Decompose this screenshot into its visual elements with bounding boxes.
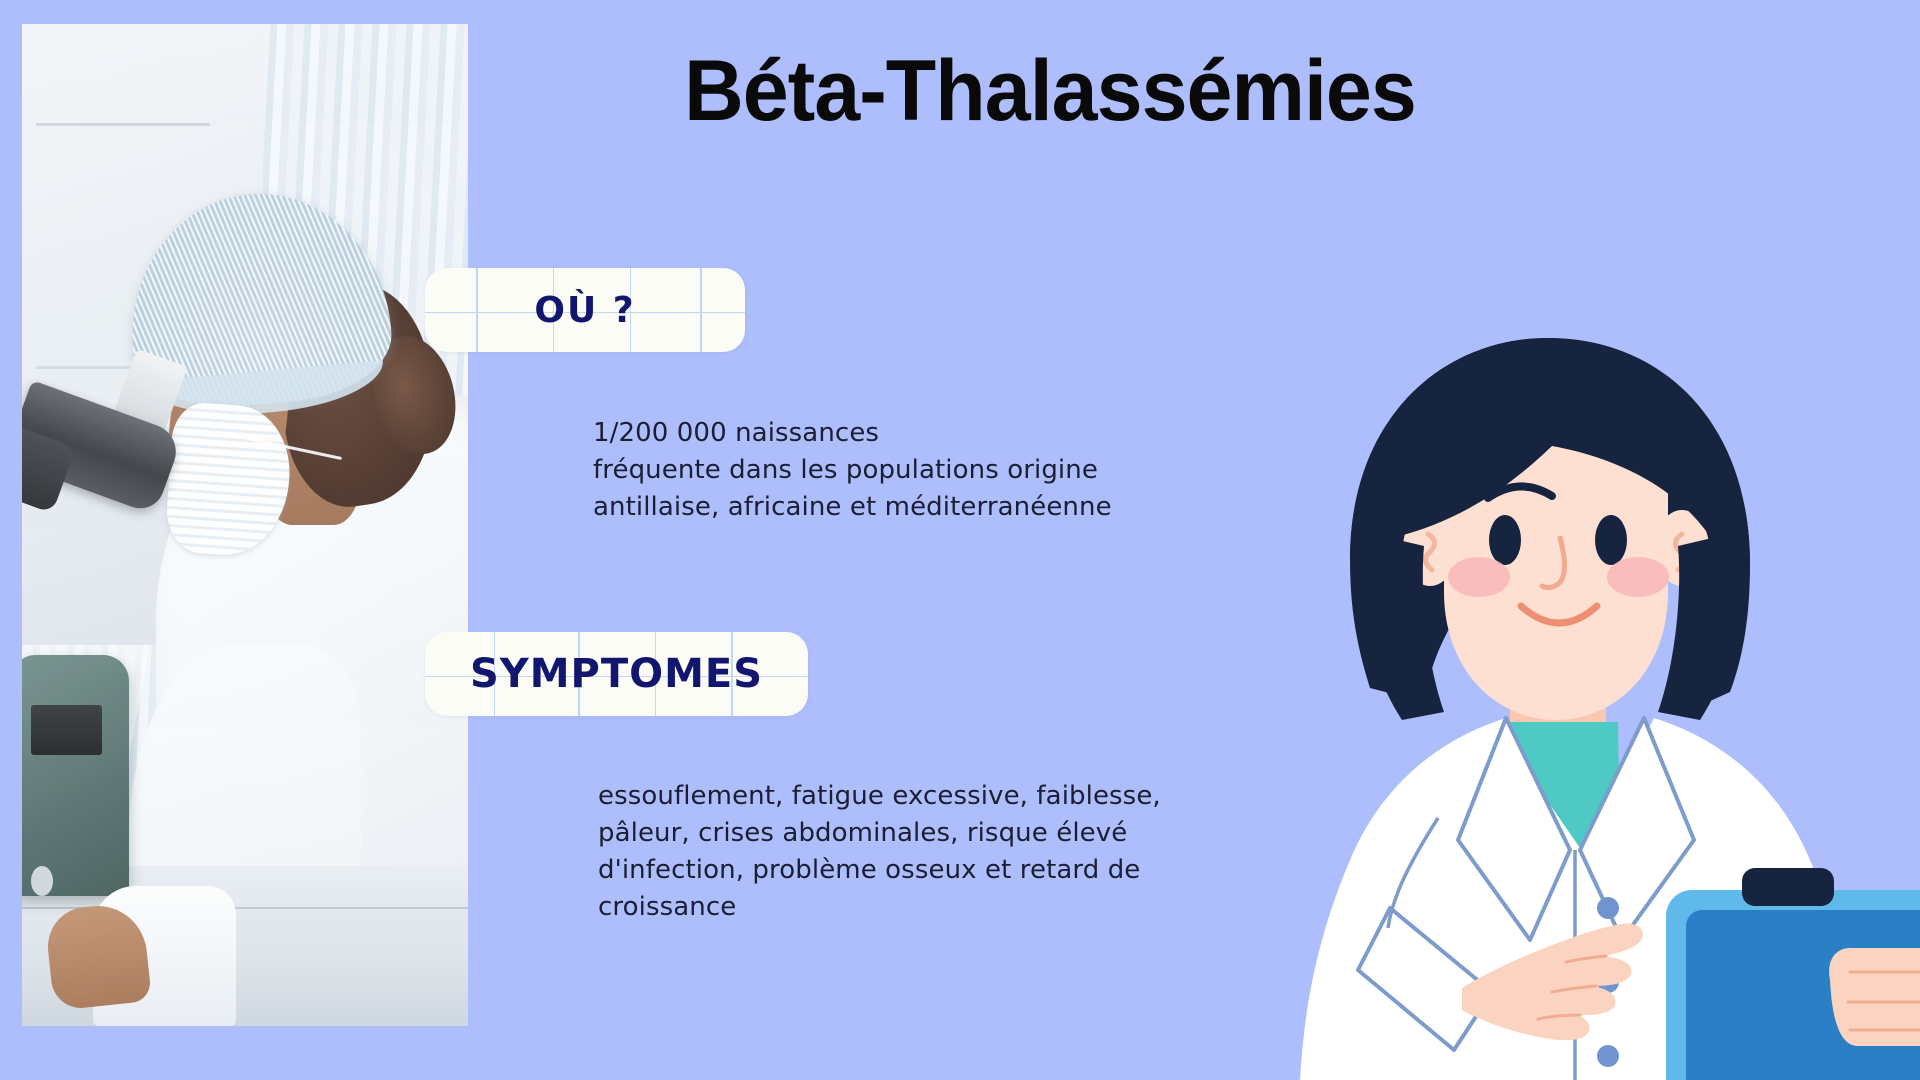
section-badge-ou: OÙ ? <box>425 268 745 352</box>
badge-label-symptomes: SYMPTOMES <box>470 651 763 697</box>
clipboard-clip <box>1742 868 1834 906</box>
photo-microscope-base <box>22 655 129 895</box>
coat-sleeve-left <box>1322 790 1470 1080</box>
ear-left <box>1403 510 1457 586</box>
badge-label-ou: OÙ ? <box>534 290 635 331</box>
hair-side-left <box>1356 530 1444 720</box>
ear-right <box>1655 510 1709 586</box>
finger-crease-1 <box>1566 956 1606 962</box>
coat-lapel-left <box>1458 718 1570 940</box>
clipboard <box>1666 868 1920 1080</box>
photo-microscope-stage <box>31 705 102 755</box>
coat-button <box>1597 897 1619 919</box>
doctor-svg <box>1230 320 1920 1080</box>
neck-shape <box>1510 620 1606 747</box>
section-body-ou: 1/200 000 naissances fréquente dans les … <box>593 415 1293 526</box>
right-hand <box>1829 948 1920 1046</box>
coat-sleeve-cuff <box>1358 908 1492 1050</box>
lab-photo <box>22 24 468 1026</box>
ear-right-detail <box>1675 534 1684 570</box>
coat-button <box>1597 971 1619 993</box>
hair-side-right <box>1658 530 1746 720</box>
coat-arm-seam <box>1388 818 1438 928</box>
hair-fringe-shape <box>1350 338 1750 570</box>
section-body-symptomes: essouflement, fatigue excessive, faibles… <box>598 778 1298 926</box>
mouth-smile <box>1521 606 1597 623</box>
face-shape <box>1444 440 1668 720</box>
hair-back-shape <box>1350 338 1750 702</box>
coat-button <box>1597 1045 1619 1067</box>
section-badge-symptomes: SYMPTOMES <box>425 632 808 716</box>
ear-left-detail <box>1425 534 1434 570</box>
coat-lapel-right <box>1580 718 1694 940</box>
nose-shape <box>1542 538 1565 588</box>
forearm-and-hand <box>1462 924 1643 1041</box>
eyebrow-left <box>1488 486 1552 498</box>
clipboard-body <box>1666 890 1920 1080</box>
doctor-illustration <box>1230 320 1920 1080</box>
finger-crease-3 <box>1538 1015 1580 1019</box>
clipboard-page <box>1686 910 1920 1080</box>
scrub-top <box>1492 722 1624 1080</box>
finger-crease-2 <box>1552 986 1596 992</box>
eye-left <box>1489 515 1521 565</box>
page-title: Béta-Thalassémies <box>618 46 1482 136</box>
photo-microscope-knob <box>31 866 53 896</box>
blush-left <box>1448 557 1510 597</box>
blush-right <box>1607 557 1669 597</box>
slide-canvas: Béta-Thalassémies OÙ ? 1/200 000 naissan… <box>0 0 1920 1080</box>
eye-right <box>1595 515 1627 565</box>
lab-coat <box>1300 718 1860 1080</box>
